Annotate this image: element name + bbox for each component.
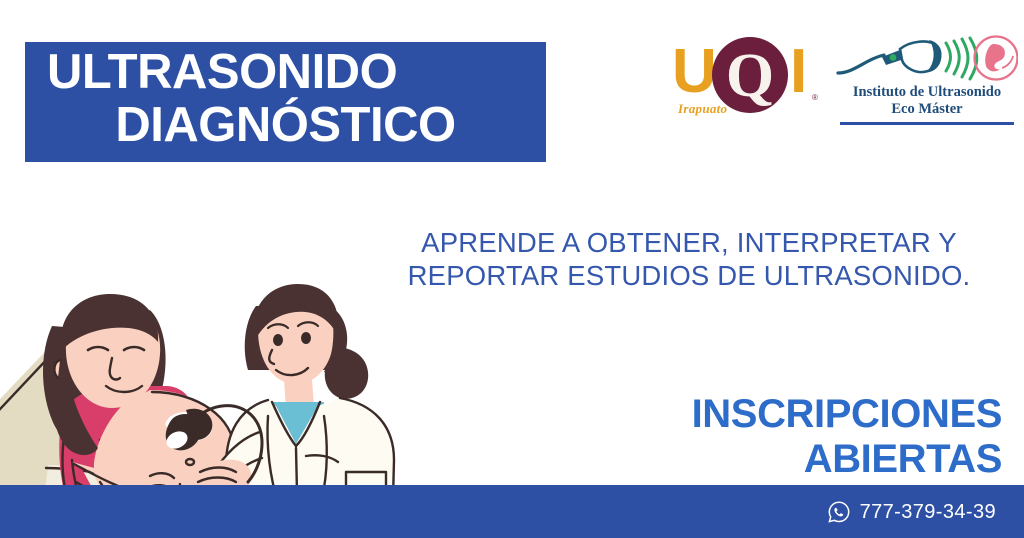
uqi-subtitle: Irapuato	[678, 101, 727, 117]
logo-group: U Q I Irapuato ®	[670, 33, 1018, 133]
cta-line-1: INSCRIPCIONES	[482, 392, 1002, 437]
cta-line-2: ABIERTAS	[482, 437, 1002, 482]
ultrasound-waves-icon	[946, 38, 977, 79]
cta-headline: INSCRIPCIONES ABIERTAS	[482, 392, 1002, 482]
phone-number: 777-379-34-39	[860, 501, 996, 524]
title-line-1: ULTRASONIDO	[47, 46, 397, 99]
uqi-letter-i: I	[790, 41, 807, 103]
fetus-circle-icon	[975, 37, 1018, 80]
title-line-2: DIAGNÓSTICO	[115, 99, 455, 152]
poster-root: ULTRASONIDO DIAGNÓSTICO U Q I Irapuato ®	[0, 0, 1024, 538]
eco-master-icons	[836, 33, 1018, 85]
uqi-letter-q: Q	[726, 47, 774, 105]
ultrasound-probe-icon	[882, 40, 942, 72]
uqi-letter-u: U	[672, 41, 717, 103]
registered-mark-icon: ®	[812, 93, 818, 102]
eco-master-logo: Instituto de Ultrasonido Eco Máster	[836, 33, 1018, 133]
eco-master-line-2: Eco Máster	[836, 101, 1018, 118]
uqi-letters: U Q I	[670, 41, 822, 103]
contact-block[interactable]: 777-379-34-39	[827, 500, 996, 524]
eco-master-line-1: Instituto de Ultrasonido	[836, 84, 1018, 101]
title-box: ULTRASONIDO DIAGNÓSTICO	[25, 42, 546, 162]
eco-master-underline	[840, 122, 1014, 125]
uqi-logo: U Q I Irapuato ®	[670, 33, 822, 128]
whatsapp-icon	[827, 500, 851, 524]
eco-master-text: Instituto de Ultrasonido Eco Máster	[836, 84, 1018, 118]
lead-paragraph: APRENDE A OBTENER, INTERPRETAR Y REPORTA…	[384, 226, 994, 292]
